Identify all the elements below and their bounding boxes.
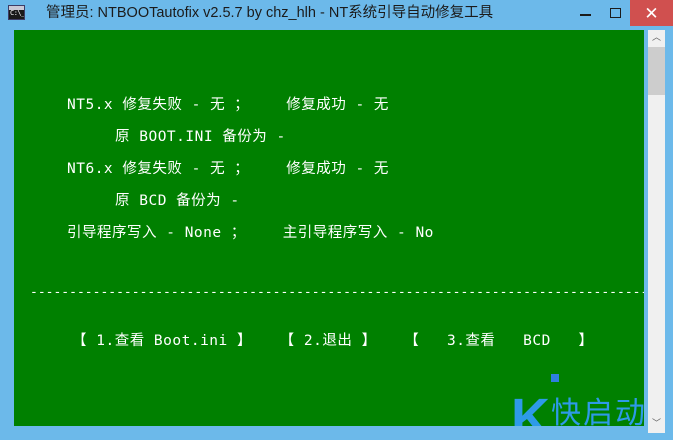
window-title: 管理员: NTBOOTautofix v2.5.7 by chz_hlh - N…	[46, 0, 493, 26]
window-frame: C:\_ 管理员: NTBOOTautofix v2.5.7 by chz_hl…	[0, 0, 673, 440]
console-line-nt5-status: NT5.x 修复失败 - 无 ； 修复成功 - 无	[67, 93, 389, 114]
title-bar[interactable]: C:\_ 管理员: NTBOOTautofix v2.5.7 by chz_hl…	[0, 0, 673, 26]
console-icon-label: C:\_	[10, 9, 25, 17]
watermark: K 快启动 www.kqidong.com	[511, 393, 644, 426]
console-line-nt5-backup: 原 BOOT.INI 备份为 -	[115, 125, 286, 146]
screenshot-root: C:\_ 管理员: NTBOOTautofix v2.5.7 by chz_hl…	[0, 0, 673, 440]
maximize-button[interactable]	[600, 0, 630, 26]
maximize-icon	[610, 8, 621, 18]
close-button[interactable]: ✕	[630, 0, 673, 26]
close-icon: ✕	[644, 5, 658, 22]
watermark-k-logo: K	[511, 391, 550, 426]
window-controls: ✕	[570, 0, 673, 26]
minimize-icon	[580, 14, 591, 16]
console-line-nt6-status: NT6.x 修复失败 - 无 ； 修复成功 - 无	[67, 157, 389, 178]
console-line-nt6-backup: 原 BCD 备份为 -	[115, 189, 240, 210]
watermark-brand-text: 快启动	[551, 398, 644, 426]
scroll-down-icon[interactable]: ﹀	[648, 416, 665, 433]
console-menu[interactable]: 【 1.查看 Boot.ini 】 【 2.退出 】 【 3.查看 BCD 】	[72, 329, 594, 350]
console-separator: ----------------------------------------…	[30, 285, 644, 300]
minimize-button[interactable]	[570, 0, 600, 26]
console-output-area[interactable]: NT5.x 修复失败 - 无 ； 修复成功 - 无 原 BOOT.INI 备份为…	[14, 30, 644, 426]
console-line-bootloader: 引导程序写入 - None ； 主引导程序写入 - No	[67, 221, 434, 242]
console-app-icon: C:\_	[8, 5, 25, 20]
console-cursor	[551, 374, 559, 382]
vertical-scrollbar[interactable]: ︿ ﹀	[648, 30, 665, 433]
scrollbar-thumb[interactable]	[648, 47, 665, 95]
scroll-up-icon[interactable]: ︿	[648, 30, 665, 47]
